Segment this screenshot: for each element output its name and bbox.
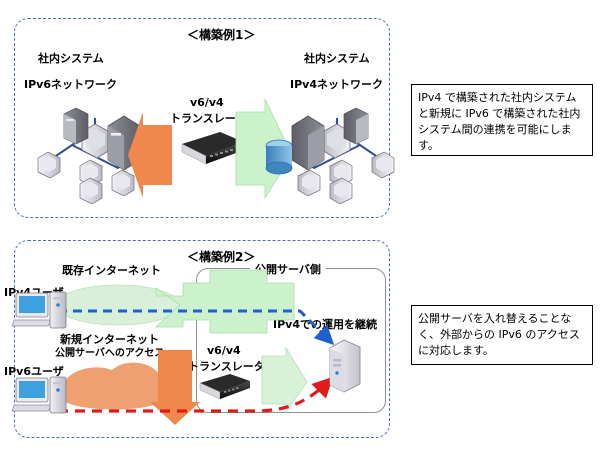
- lan-cluster-right: [266, 108, 394, 204]
- translator-appliance-2: [200, 374, 250, 399]
- desktop-pc-ipv6-user: [12, 377, 66, 413]
- arrow-ipv4-bidirectional: [156, 270, 294, 333]
- diagram-artwork: [0, 0, 600, 450]
- server-tower-small-left: [64, 108, 88, 144]
- diagram-canvas: ＜構築例1＞ 社内システム IPv6ネットワーク 社内システム IPv4ネットワ…: [0, 0, 600, 450]
- translator-appliance-1: [182, 132, 244, 164]
- desktop-pc-ipv4-user: [12, 292, 66, 328]
- cloud-ipv4: [56, 285, 180, 325]
- public-server: [330, 340, 360, 392]
